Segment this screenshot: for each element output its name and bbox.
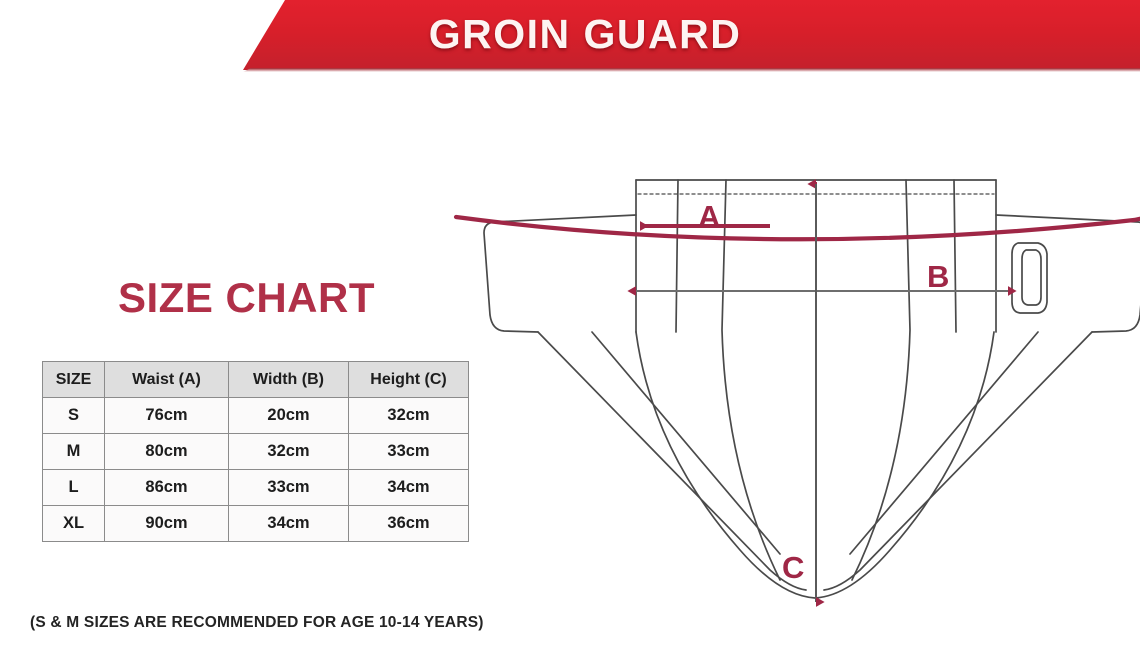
column-header-waist: Waist (A) xyxy=(105,362,229,398)
size-chart-heading: SIZE CHART xyxy=(118,274,375,322)
table-row: M 80cm 32cm 33cm xyxy=(43,434,469,470)
size-chart-page: GROIN GUARD SIZE CHART SIZE Waist (A) Wi… xyxy=(0,0,1140,666)
table-header-row: SIZE Waist (A) Width (B) Height (C) xyxy=(43,362,469,398)
cell-width: 20cm xyxy=(229,398,349,434)
table-row: S 76cm 20cm 32cm xyxy=(43,398,469,434)
size-recommendation-note: (S & M SIZES ARE RECOMMENDED FOR AGE 10-… xyxy=(30,614,484,632)
measurement-line-a xyxy=(456,217,1140,239)
cell-width: 32cm xyxy=(229,434,349,470)
measurement-label-b: B xyxy=(927,261,949,292)
cell-waist: 76cm xyxy=(105,398,229,434)
cell-waist: 86cm xyxy=(105,470,229,506)
cell-size: S xyxy=(43,398,105,434)
header-banner-underline xyxy=(243,68,1140,72)
measurement-label-a: A xyxy=(698,201,720,232)
column-header-size: SIZE xyxy=(43,362,105,398)
page-title: GROIN GUARD xyxy=(370,8,800,60)
size-chart-table: SIZE Waist (A) Width (B) Height (C) S 76… xyxy=(42,361,469,542)
cell-waist: 90cm xyxy=(105,506,229,542)
cell-width: 34cm xyxy=(229,506,349,542)
table-body: S 76cm 20cm 32cm M 80cm 32cm 33cm L 86cm… xyxy=(43,398,469,542)
cell-size: L xyxy=(43,470,105,506)
cell-waist: 80cm xyxy=(105,434,229,470)
cell-size: XL xyxy=(43,506,105,542)
cell-width: 33cm xyxy=(229,470,349,506)
measurement-label-c: C xyxy=(782,552,804,583)
table-row: XL 90cm 34cm 36cm xyxy=(43,506,469,542)
cell-size: M xyxy=(43,434,105,470)
table-header: SIZE Waist (A) Width (B) Height (C) xyxy=(43,362,469,398)
column-header-width: Width (B) xyxy=(229,362,349,398)
groin-guard-diagram: A B C xyxy=(440,150,1140,650)
table-row: L 86cm 33cm 34cm xyxy=(43,470,469,506)
garment-outline xyxy=(484,180,1140,598)
